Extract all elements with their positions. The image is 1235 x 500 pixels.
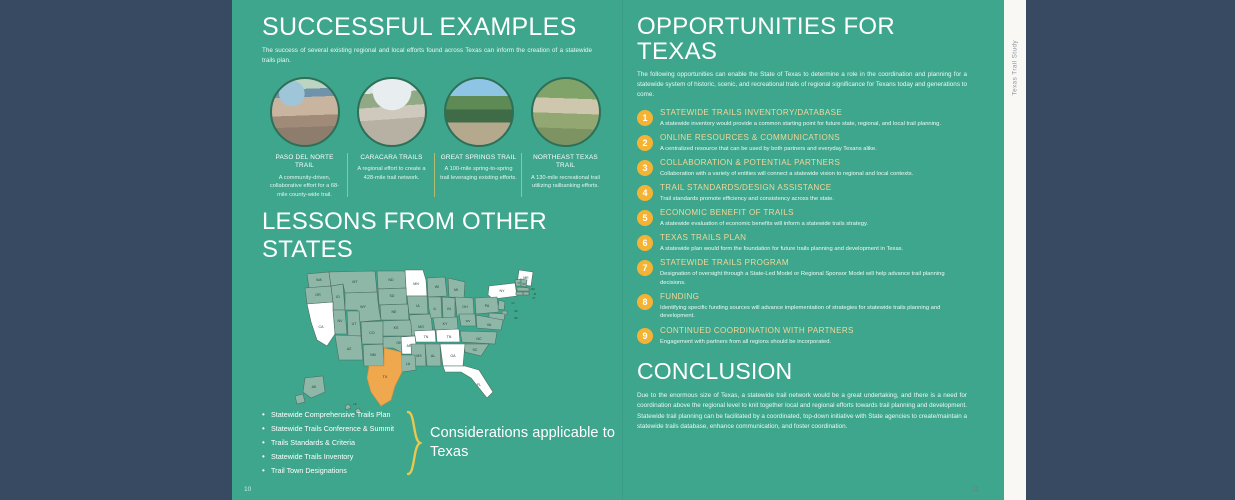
us-states-map: WA OR ID MT ND MN WI MI NY ME VT NH MA R…	[262, 266, 604, 426]
opportunities-intro: The following opportunities can enable t…	[637, 70, 967, 99]
svg-text:GA: GA	[450, 354, 456, 358]
svg-text:WY: WY	[360, 305, 366, 309]
page-number-right: 11	[972, 486, 979, 493]
svg-text:MI: MI	[454, 288, 458, 292]
svg-text:NH: NH	[522, 283, 526, 286]
opportunity-description: A statewide inventory would provide a co…	[660, 120, 967, 129]
svg-text:IN: IN	[447, 307, 451, 311]
opportunity-number-badge: 1	[637, 110, 653, 126]
opportunity-title: STATEWIDE TRAILS PROGRAM	[660, 259, 967, 268]
opportunity-number-badge: 8	[637, 294, 653, 310]
opportunities-list: 1 STATEWIDE TRAILS INVENTORY/DATABASE A …	[637, 109, 967, 347]
opportunity-number-badge: 6	[637, 235, 653, 251]
list-item: Trails Standards & Criteria	[262, 436, 394, 450]
svg-text:ND: ND	[388, 278, 394, 282]
considerations-bullet-list: Statewide Comprehensive Trails Plan Stat…	[262, 408, 394, 478]
page-title-lessons-from-other-states: LESSONS FROM OTHER STATES	[262, 208, 604, 264]
list-item: Statewide Trails Inventory	[262, 450, 394, 464]
opportunity-number-badge: 7	[637, 260, 653, 276]
opportunity-title: CONTINUED COORDINATION WITH PARTNERS	[660, 327, 967, 336]
considerations-callout-text: Considerations applicable to Texas	[430, 424, 622, 462]
opportunity-number-badge: 3	[637, 160, 653, 176]
opportunity-number-badge: 4	[637, 185, 653, 201]
svg-text:TX: TX	[382, 374, 387, 379]
opportunity-title: ONLINE RESOURCES & COMMUNICATIONS	[660, 134, 967, 143]
svg-text:KY: KY	[443, 322, 448, 326]
considerations-block: Statewide Comprehensive Trails Plan Stat…	[262, 408, 622, 478]
opportunity-title: STATEWIDE TRAILS INVENTORY/DATABASE	[660, 109, 967, 118]
trail-example-card[interactable]: PASO DEL NORTE TRAIL A community-driven,…	[266, 77, 343, 199]
svg-text:AZ: AZ	[347, 347, 352, 351]
successful-examples-intro: The success of several existing regional…	[262, 46, 592, 66]
trail-example-card[interactable]: NORTHEAST TEXAS TRAIL A 130-mile recreat…	[527, 77, 604, 199]
opportunity-number-badge: 2	[637, 135, 653, 151]
svg-text:OH: OH	[462, 305, 468, 309]
svg-text:NY: NY	[500, 289, 506, 293]
trail-example-name: CARACARA TRAILS	[353, 154, 430, 163]
trail-examples-row: PASO DEL NORTE TRAIL A community-driven,…	[262, 77, 604, 199]
svg-text:NE: NE	[392, 310, 398, 314]
svg-text:LA: LA	[406, 362, 411, 366]
opportunity-title: TEXAS TRAILS PLAN	[660, 234, 967, 243]
document-spread: SUCCESSFUL EXAMPLES The success of sever…	[232, 0, 1004, 500]
opportunity-item[interactable]: 5 ECONOMIC BENEFIT OF TRAILS A statewide…	[637, 209, 967, 229]
trail-photo-great-springs	[444, 77, 514, 147]
svg-text:SC: SC	[473, 348, 478, 352]
svg-text:PA: PA	[485, 304, 490, 308]
side-tab-strip[interactable]: Texas Trail Study	[1004, 0, 1026, 500]
svg-text:IA: IA	[416, 304, 420, 308]
svg-text:MS: MS	[416, 354, 422, 358]
trail-example-description: A community-driven, collaborative effort…	[266, 174, 343, 199]
curly-brace-icon	[406, 410, 422, 476]
list-item: Statewide Comprehensive Trails Plan	[262, 408, 394, 422]
opportunity-description: Identifying specific funding sources wil…	[660, 304, 967, 321]
svg-text:WA: WA	[316, 278, 322, 282]
opportunity-item[interactable]: 1 STATEWIDE TRAILS INVENTORY/DATABASE A …	[637, 109, 967, 129]
page-number-left: 10	[244, 486, 251, 493]
svg-text:WV: WV	[466, 319, 471, 323]
trail-photo-paso-del-norte	[270, 77, 340, 147]
svg-text:TN: TN	[424, 335, 429, 339]
trail-example-card[interactable]: GREAT SPRINGS TRAIL A 100-mile spring-to…	[440, 77, 517, 199]
trail-example-description: A 100-mile spring-to-spring trail levera…	[440, 165, 517, 182]
svg-text:TN: TN	[447, 335, 452, 339]
svg-text:ID: ID	[336, 295, 340, 299]
svg-text:CT: CT	[532, 297, 536, 300]
svg-text:NV: NV	[338, 319, 344, 323]
side-tab-label: Texas Trail Study	[1012, 40, 1019, 95]
trail-example-description: A 130-mile recreational trail utilizing …	[527, 174, 604, 191]
svg-text:WI: WI	[435, 285, 439, 289]
svg-text:HI: HI	[354, 402, 357, 406]
svg-text:NC: NC	[476, 337, 482, 341]
svg-text:CO: CO	[369, 331, 375, 335]
svg-text:CA: CA	[319, 325, 325, 329]
trail-example-name: PASO DEL NORTE TRAIL	[266, 154, 343, 171]
trail-photo-caracara	[357, 77, 427, 147]
conclusion-text: Due to the enormous size of Texas, a sta…	[637, 391, 967, 432]
opportunity-item[interactable]: 8 FUNDING Identifying specific funding s…	[637, 293, 967, 321]
svg-text:MD: MD	[514, 318, 518, 320]
svg-text:MA: MA	[531, 288, 535, 291]
trail-example-description: A regional effort to create a 428-mile t…	[353, 165, 430, 182]
opportunity-title: FUNDING	[660, 293, 967, 302]
svg-text:NJ: NJ	[512, 303, 515, 305]
opportunity-item[interactable]: 4 TRAIL STANDARDS/DESIGN ASSISTANCE Trai…	[637, 184, 967, 204]
trail-example-card[interactable]: CARACARA TRAILS A regional effort to cre…	[353, 77, 430, 199]
svg-text:OR: OR	[315, 293, 321, 297]
opportunity-description: Designation of oversight through a State…	[660, 270, 967, 287]
trail-example-name: GREAT SPRINGS TRAIL	[440, 154, 517, 163]
opportunity-description: A centralized resource that can be used …	[660, 145, 967, 154]
svg-text:FL: FL	[477, 383, 481, 387]
svg-text:VA: VA	[487, 323, 492, 327]
opportunity-description: A statewide plan would form the foundati…	[660, 245, 967, 254]
opportunity-item[interactable]: 2 ONLINE RESOURCES & COMMUNICATIONS A ce…	[637, 134, 967, 154]
opportunity-description: Engagement with partners from all region…	[660, 338, 967, 347]
trail-example-name: NORTHEAST TEXAS TRAIL	[527, 154, 604, 171]
svg-text:SD: SD	[390, 294, 395, 298]
svg-text:AK: AK	[312, 385, 317, 389]
page-title-conclusion: CONCLUSION	[637, 358, 967, 385]
svg-text:MN: MN	[413, 282, 419, 286]
svg-text:NM: NM	[370, 353, 376, 357]
svg-text:MT: MT	[352, 280, 358, 284]
opportunity-description: A statewide evaluation of economic benef…	[660, 220, 967, 229]
us-map-svg: WA OR ID MT ND MN WI MI NY ME VT NH MA R…	[283, 266, 583, 426]
svg-text:MO: MO	[418, 325, 424, 329]
page-title-successful-examples: SUCCESSFUL EXAMPLES	[262, 14, 604, 40]
opportunity-number-badge: 5	[637, 210, 653, 226]
opportunity-item[interactable]: 6 TEXAS TRAILS PLAN A statewide plan wou…	[637, 234, 967, 254]
opportunity-title: ECONOMIC BENEFIT OF TRAILS	[660, 209, 967, 218]
svg-text:RI: RI	[534, 293, 537, 296]
opportunity-title: COLLABORATION & POTENTIAL PARTNERS	[660, 159, 967, 168]
opportunity-title: TRAIL STANDARDS/DESIGN ASSISTANCE	[660, 184, 967, 193]
left-page: SUCCESSFUL EXAMPLES The success of sever…	[232, 0, 622, 500]
page-title-opportunities-for-texas: OPPORTUNITIES FOR TEXAS	[637, 14, 967, 64]
svg-text:AL: AL	[431, 354, 435, 358]
svg-text:UT: UT	[352, 322, 358, 326]
list-item: Trail Town Designations	[262, 464, 394, 478]
list-item: Statewide Trails Conference & Summit	[262, 422, 394, 436]
opportunity-item[interactable]: 9 CONTINUED COORDINATION WITH PARTNERS E…	[637, 327, 967, 347]
svg-text:DE: DE	[514, 311, 518, 313]
opportunity-number-badge: 9	[637, 328, 653, 344]
opportunity-description: Collaboration with a variety of entities…	[660, 170, 967, 179]
opportunity-description: Trail standards promote efficiency and c…	[660, 195, 967, 204]
svg-text:VT: VT	[517, 282, 521, 285]
trail-photo-northeast-texas	[531, 77, 601, 147]
right-page: OPPORTUNITIES FOR TEXAS The following op…	[623, 0, 989, 500]
svg-text:IL: IL	[434, 307, 437, 311]
svg-text:KS: KS	[394, 326, 399, 330]
opportunity-item[interactable]: 7 STATEWIDE TRAILS PROGRAM Designation o…	[637, 259, 967, 287]
opportunity-item[interactable]: 3 COLLABORATION & POTENTIAL PARTNERS Col…	[637, 159, 967, 179]
